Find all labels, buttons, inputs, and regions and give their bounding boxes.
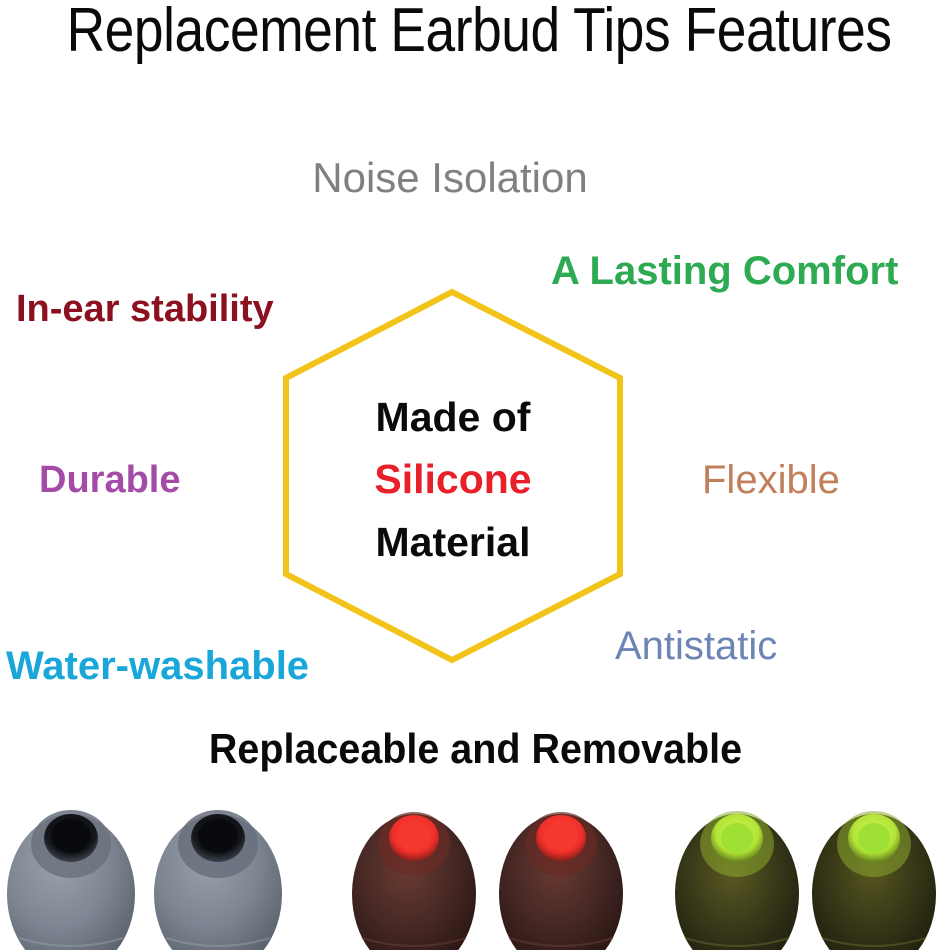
earbud-tips-infographic: Replacement Earbud Tips Features Noise I… [0, 0, 951, 950]
earbud-tip-red-right [495, 798, 627, 950]
feature-label-flexible: Flexible [702, 459, 840, 501]
feature-label-antistatic: Antistatic [615, 625, 777, 667]
feature-label-replaceable-removable: Replaceable and Removable [29, 727, 923, 771]
page-title: Replacement Earbud Tips Features [67, 0, 885, 63]
hexagon-line-2-silicone: Silicone [278, 448, 628, 510]
hexagon-line-1: Made of [278, 386, 628, 448]
feature-label-durable: Durable [39, 461, 180, 501]
earbud-tip-gray-right [152, 798, 284, 950]
hexagon-line-3: Material [278, 511, 628, 573]
earbud-tip-green-left [671, 798, 803, 950]
feature-label-in-ear-stability: In-ear stability [16, 290, 274, 330]
earbud-tip-gray-left [5, 798, 137, 950]
hexagon-text-block: Made of Silicone Material [278, 386, 628, 573]
earbud-tip-green-right [808, 798, 940, 950]
earbud-tip-red-left [348, 798, 480, 950]
earbud-tips-row [0, 798, 951, 950]
feature-label-water-washable: Water-washable [6, 645, 309, 687]
feature-label-noise-isolation: Noise Isolation [0, 156, 900, 200]
